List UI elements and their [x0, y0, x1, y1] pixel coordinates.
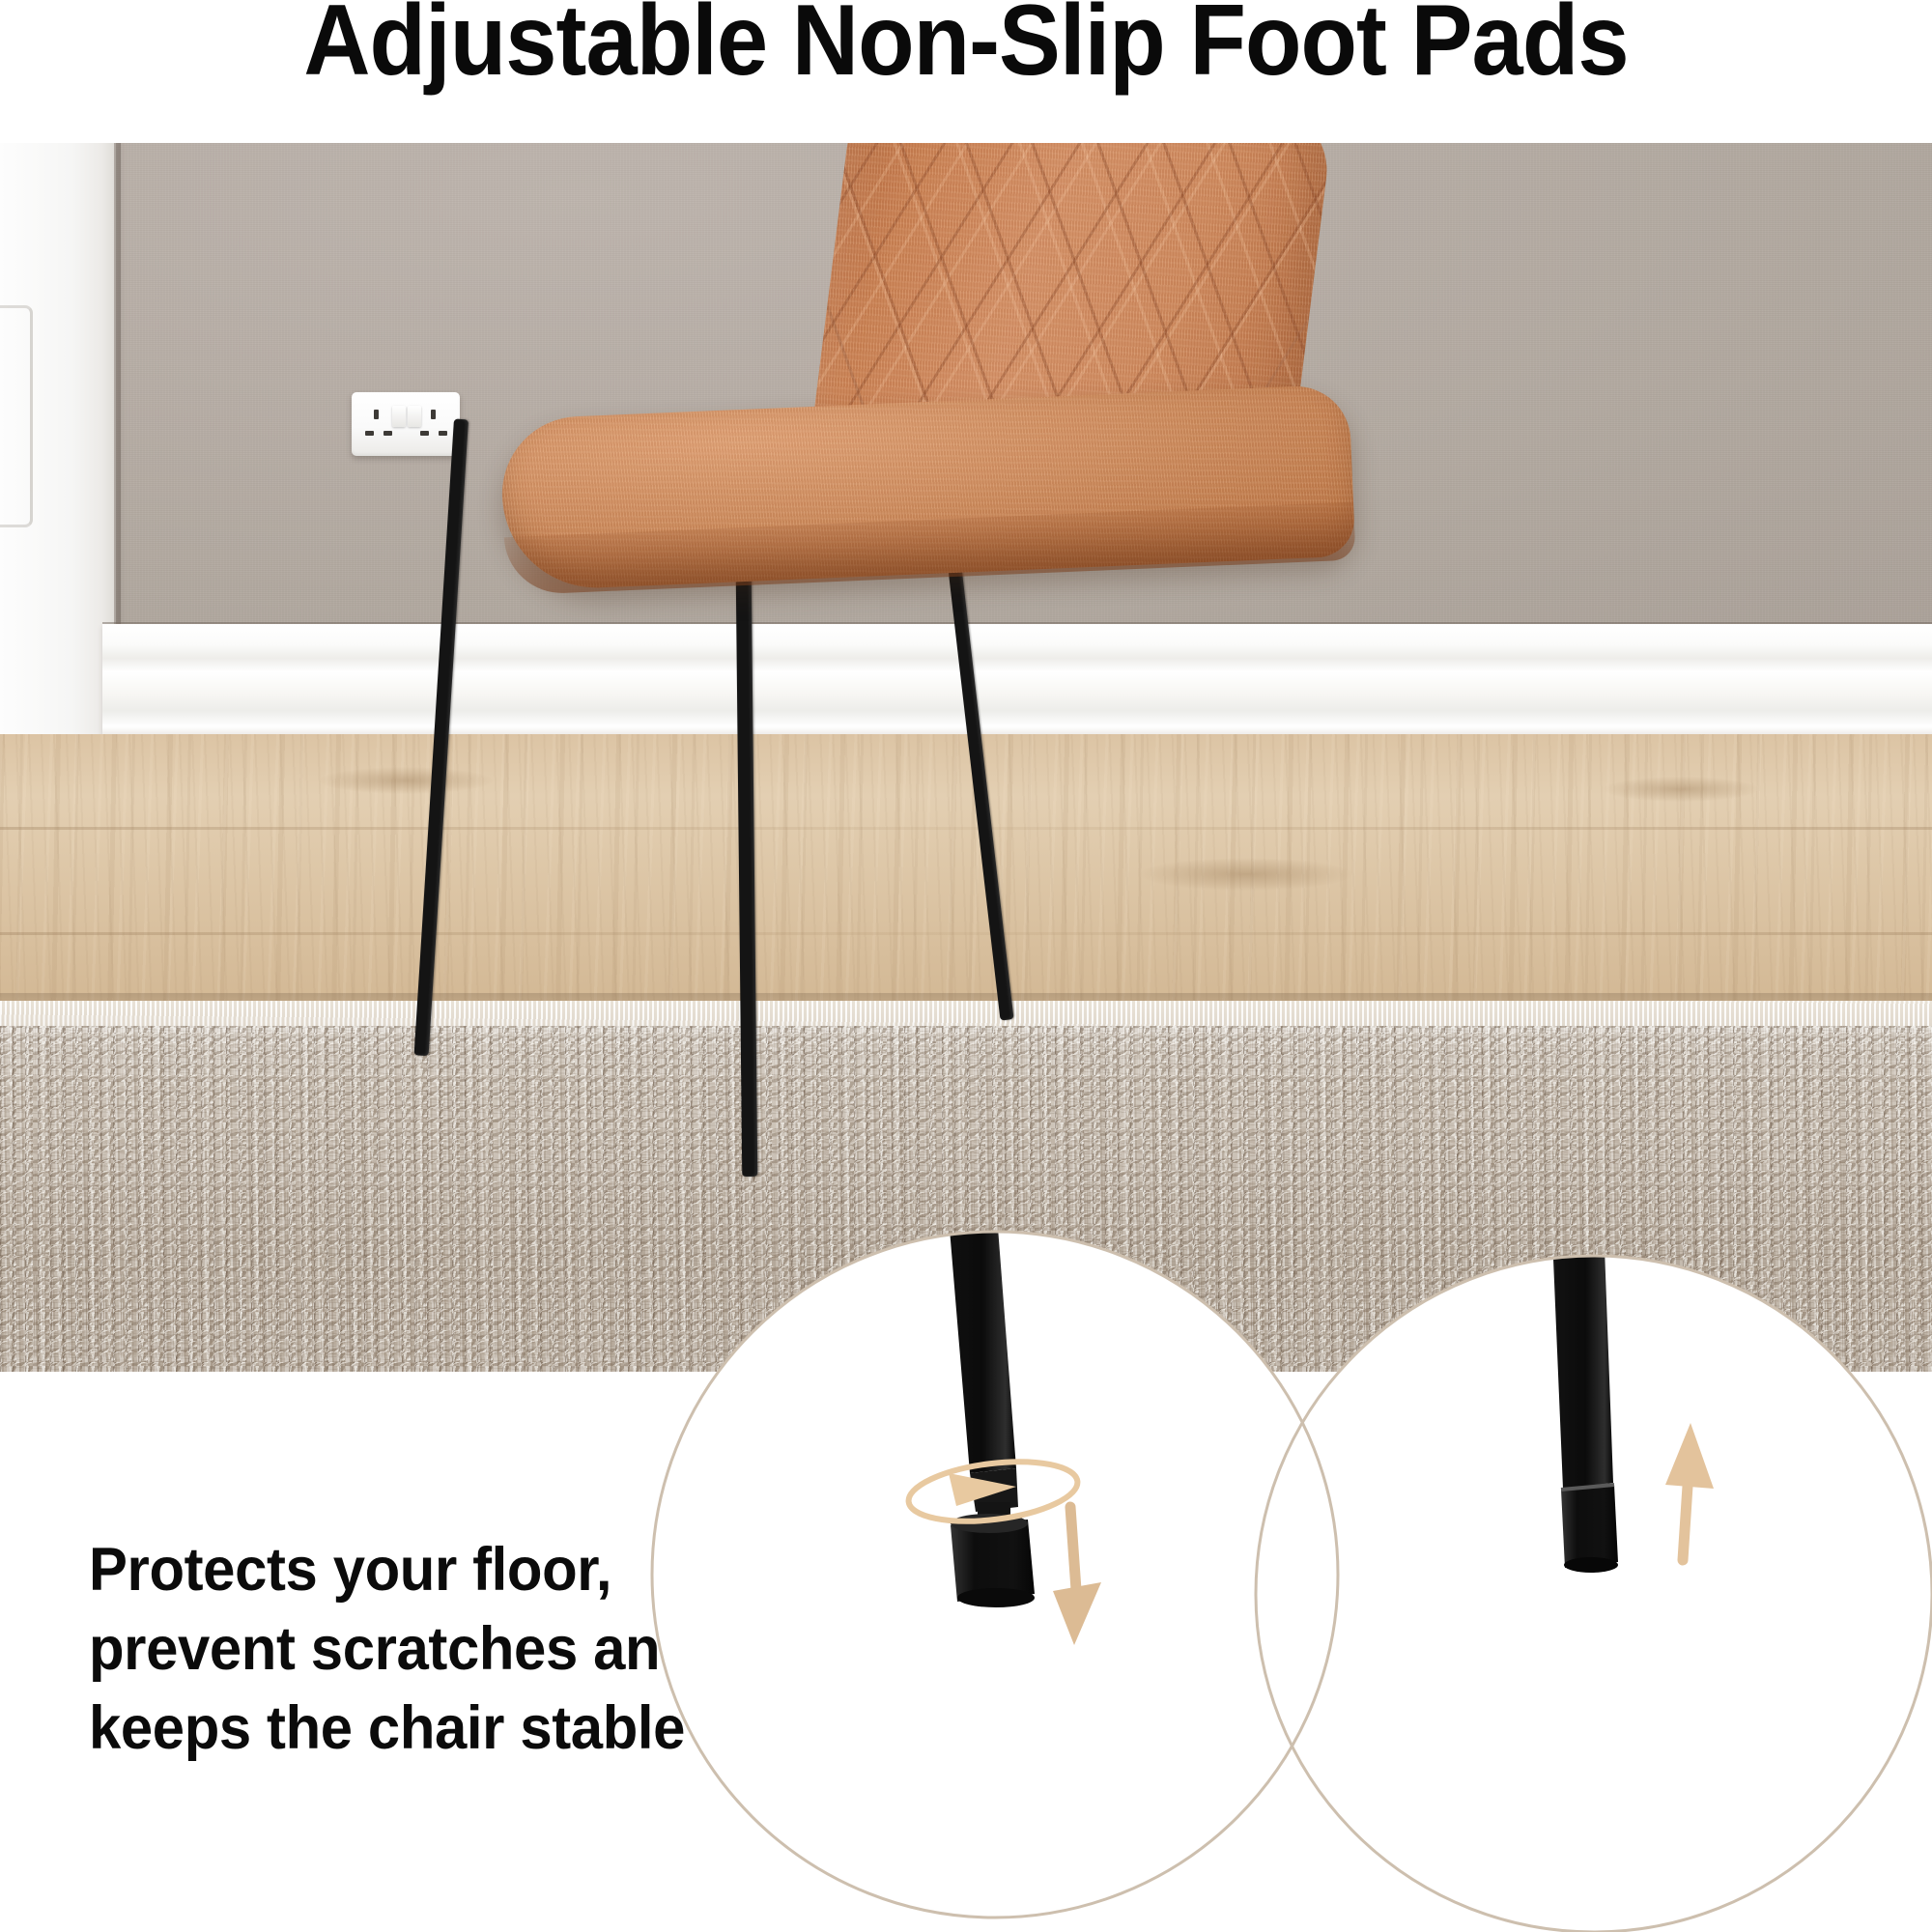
caption-line-3: keeps the chair stable	[89, 1690, 676, 1769]
caption-line-1: Protects your floor,	[89, 1531, 676, 1610]
chair-seat	[499, 384, 1356, 592]
header-band: Adjustable Non-Slip Foot Pads	[0, 0, 1932, 143]
product-feature-image: Adjustable Non-Slip Foot Pads	[0, 0, 1932, 1932]
inset-right-foot-pad	[1561, 1485, 1618, 1573]
feature-caption: Protects your floor, prevent scratches a…	[89, 1531, 676, 1769]
foot-pad-detail-insets	[638, 1019, 1932, 1932]
caption-line-2: prevent scratches and	[89, 1610, 676, 1690]
inset-left-foot-pad	[951, 1514, 1035, 1607]
page-title: Adjustable Non-Slip Foot Pads	[77, 0, 1855, 99]
chair-leg-front-left	[414, 419, 469, 1057]
inset-circles-svg	[638, 1019, 1932, 1932]
